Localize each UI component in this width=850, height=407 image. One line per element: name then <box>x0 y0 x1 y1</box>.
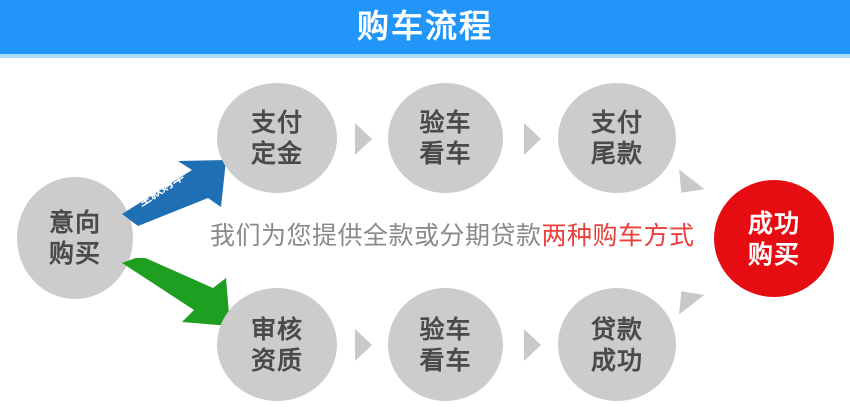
stage-intent-to-buy: 意向 购买 <box>17 177 133 299</box>
branch-arrow-installment: 分期购车 <box>122 258 234 330</box>
purchase-flow-infographic: 购车流程 意向 购买 全款购车 分期购车 支付 定金 验车 看车 支付 尾款 审… <box>0 0 850 407</box>
stage-label-line2: 尾款 <box>591 138 643 169</box>
stage-label-line2: 看车 <box>419 138 471 169</box>
stage-loan-approved: 贷款 成功 <box>558 288 676 401</box>
stage-label-line2: 购买 <box>49 238 101 269</box>
stage-label-line1: 贷款 <box>591 314 643 345</box>
header-underline-divider <box>0 54 850 58</box>
connector-arrow-merge-bottom-icon <box>669 281 705 314</box>
stage-label-line2: 看车 <box>419 345 471 376</box>
stage-review-qualification: 审核 资质 <box>217 288 337 401</box>
stage-pay-deposit: 支付 定金 <box>217 83 337 193</box>
stage-label-line1: 支付 <box>251 107 303 138</box>
connector-arrow-merge-top-icon <box>669 169 705 202</box>
page-title: 购车流程 <box>0 0 850 54</box>
stage-label-line1: 验车 <box>419 314 471 345</box>
connector-arrow-top-1-icon <box>355 123 372 155</box>
connector-arrow-bottom-1-icon <box>355 329 372 361</box>
connector-arrow-top-2-icon <box>524 123 541 155</box>
stage-label-line1: 成功 <box>748 208 800 239</box>
middle-note-accent-text: 两种购车方式 <box>542 221 695 250</box>
stage-purchase-success: 成功 购买 <box>714 180 834 297</box>
connector-arrow-bottom-2-icon <box>524 329 541 361</box>
stage-label-line1: 验车 <box>419 107 471 138</box>
stage-label-line2: 资质 <box>251 345 303 376</box>
stage-label-line2: 购买 <box>748 239 800 270</box>
stage-label-line1: 审核 <box>251 314 303 345</box>
stage-inspect-vehicle-top: 验车 看车 <box>388 83 503 193</box>
stage-label-line2: 成功 <box>591 345 643 376</box>
middle-note-plain-text: 我们为您提供全款或分期贷款 <box>210 221 542 250</box>
stage-pay-balance: 支付 尾款 <box>558 83 676 193</box>
stage-label-line2: 定金 <box>251 138 303 169</box>
stage-label-line1: 意向 <box>49 207 101 238</box>
stage-inspect-vehicle-bottom: 验车 看车 <box>388 288 503 401</box>
stage-label-line1: 支付 <box>591 107 643 138</box>
middle-note: 我们为您提供全款或分期贷款两种购车方式 <box>210 218 695 254</box>
